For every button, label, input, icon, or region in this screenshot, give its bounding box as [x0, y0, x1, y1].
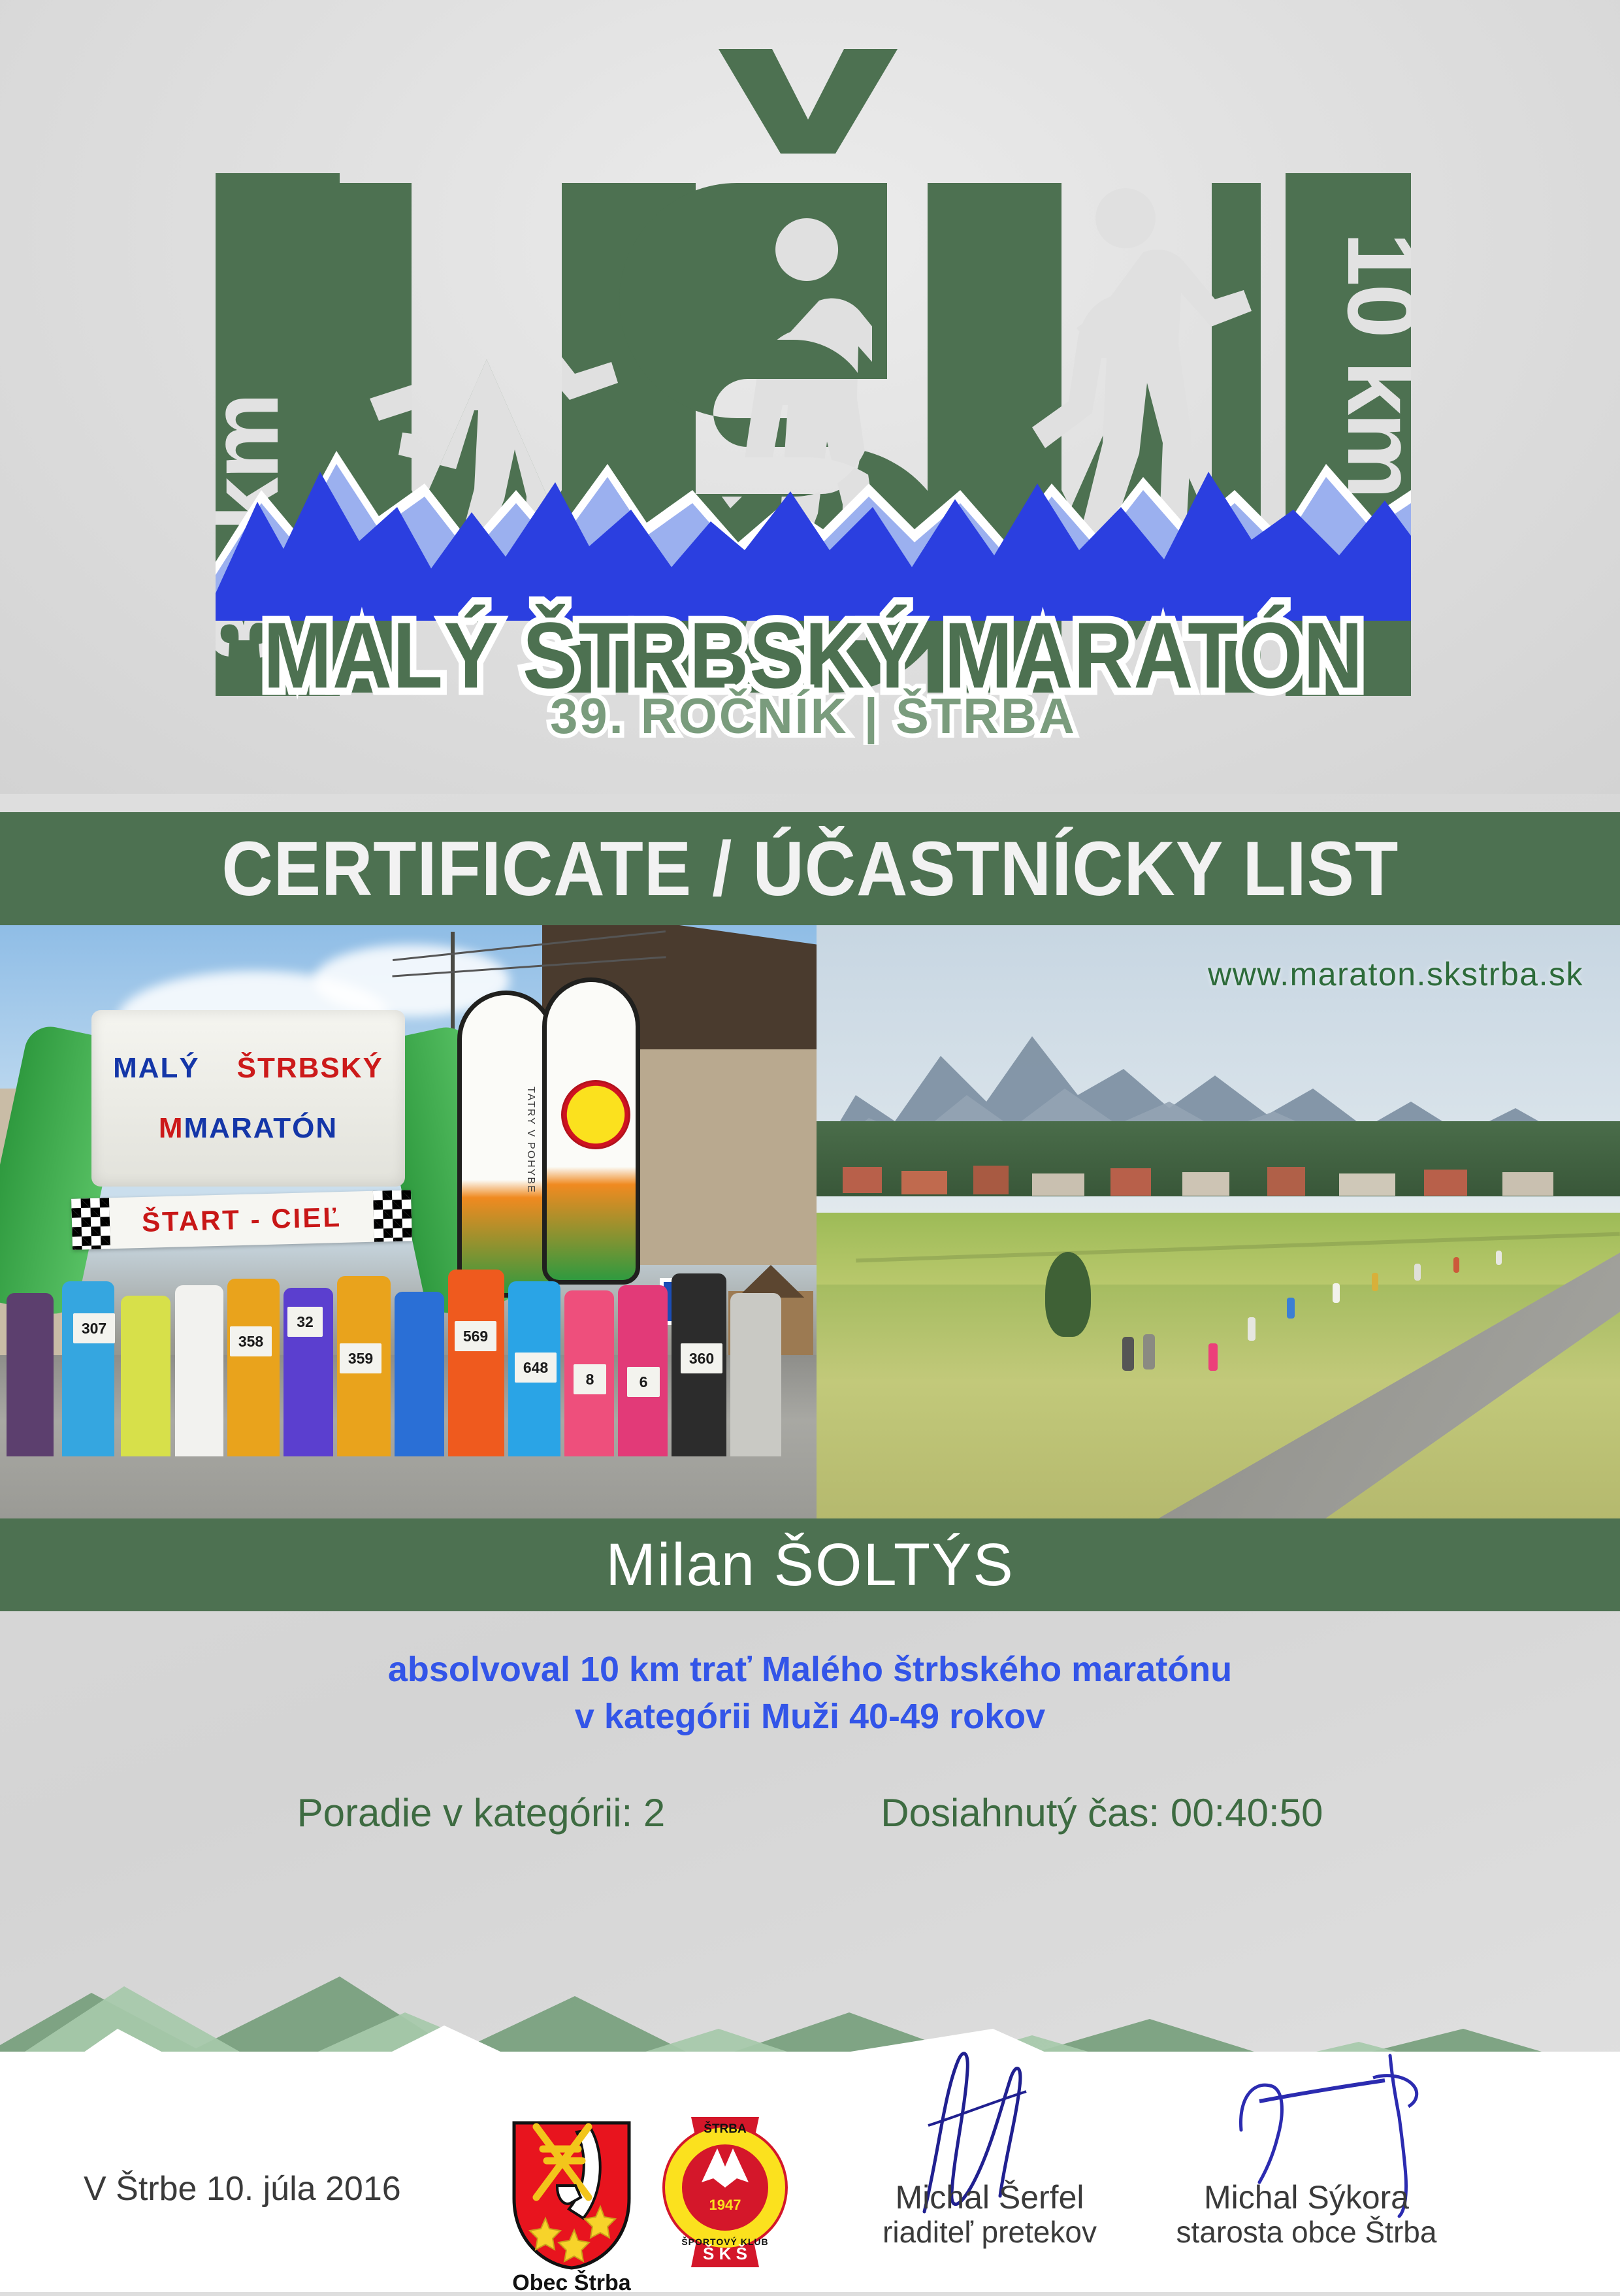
race-start-photo: MALÝ ŠTRBSKÝ MMARATÓN ŠTART - CIEĽ TATR: [0, 925, 817, 1518]
runner-bib: 6: [627, 1367, 660, 1397]
participant-name: Milan ŠOLTÝS: [606, 1531, 1014, 1599]
sports-club-crest-icon: ŠTRBA 1947 Š K Š ŠPORTOVÝ KLUB: [660, 2110, 790, 2274]
runner-bib: 8: [574, 1364, 606, 1394]
runner: [121, 1296, 170, 1456]
runner: [730, 1293, 781, 1456]
photo-strip: MALÝ ŠTRBSKÝ MMARATÓN ŠTART - CIEĽ TATR: [0, 925, 1620, 1518]
distant-runner: [1208, 1343, 1218, 1371]
achievement-line-2: v kategórii Muži 40-49 rokov: [0, 1694, 1620, 1741]
village-crest-caption: Obec Štrba: [496, 2271, 647, 2296]
runner: [395, 1292, 444, 1456]
logo-area: 31 km 10 km: [0, 0, 1620, 794]
msm-logo: 31 km 10 km: [216, 33, 1411, 745]
landscape-photo: www.maraton.skstrba.sk: [817, 925, 1620, 1518]
tree: [1045, 1252, 1091, 1337]
signature-name: Michal Sýkora: [1124, 2179, 1489, 2216]
finish-time: Dosiahnutý čas: 00:40:50: [881, 1790, 1323, 1835]
runner: [62, 1281, 114, 1456]
building: [640, 1049, 817, 1265]
arch-word-maraton: MARATÓN: [184, 1112, 338, 1144]
signature-role: starosta obce Štrba: [1124, 2216, 1489, 2250]
arch-banner-top: MALÝ ŠTRBSKÝ MMARATÓN: [91, 1010, 405, 1187]
distant-runner: [1287, 1298, 1295, 1319]
sks-badge-icon: [561, 1080, 630, 1149]
start-finish-text: ŠTART - CIEĽ: [141, 1202, 342, 1238]
arch-word-strbsky: ŠTRBSKÝ: [237, 1052, 383, 1084]
runner: [448, 1270, 504, 1456]
spectator: [1143, 1334, 1155, 1369]
results-row: Poradie v kategórii: 2 Dosiahnutý čas: 0…: [0, 1790, 1620, 1835]
runner: [175, 1285, 223, 1456]
signature-role: riaditeľ pretekov: [807, 2216, 1173, 2250]
certificate-title-band: CERTIFICATE / ÚČASTNÍCKY LIST: [0, 812, 1620, 925]
right-distance-label: 10 km: [1327, 232, 1411, 497]
runner-bib: 648: [515, 1353, 557, 1383]
runner-bib: 360: [681, 1343, 722, 1373]
footer: V Štrbe 10. júla 2016 Obec Štrba: [0, 2052, 1620, 2292]
distant-runner: [1414, 1264, 1421, 1281]
runner-crowd: 307 358 359 32 569 648 8 6 360: [0, 1238, 817, 1518]
arch-line-2: MMARATÓN: [159, 1112, 338, 1145]
achievement-description: absolvoval 10 km trať Malého štrbského m…: [0, 1647, 1620, 1741]
runner-bib: 359: [340, 1343, 381, 1373]
runner: [7, 1293, 54, 1456]
checker-flag-right: [373, 1190, 412, 1241]
runner: [227, 1279, 280, 1456]
certificate-page: 31 km 10 km: [0, 0, 1620, 2292]
spectator: [1122, 1337, 1134, 1371]
runner-bib: 307: [73, 1313, 115, 1343]
arch-word-maly: MALÝ: [113, 1052, 200, 1084]
flag-text: TATRY V POHYBE: [484, 1087, 536, 1237]
village-crest-icon: [506, 2120, 637, 2271]
distant-runner: [1333, 1283, 1340, 1303]
event-edition: 39. ROČNÍK | ŠTRBA: [550, 689, 1077, 745]
club-crest-top: ŠTRBA: [704, 2122, 747, 2136]
issue-date: V Štrbe 10. júla 2016: [84, 2169, 401, 2208]
arch-line-1: MALÝ ŠTRBSKÝ: [113, 1052, 383, 1085]
runner-bib: 358: [230, 1326, 272, 1356]
distant-runner: [1453, 1257, 1459, 1273]
achievement-line-1: absolvoval 10 km trať Malého štrbského m…: [0, 1647, 1620, 1694]
club-crest-year: 1947: [709, 2197, 741, 2213]
signature-name: Michal Šerfel: [807, 2179, 1173, 2216]
club-crest-ring: ŠPORTOVÝ KLUB: [681, 2236, 768, 2247]
inflatable-start-arch: MALÝ ŠTRBSKÝ MMARATÓN ŠTART - CIEĽ: [0, 1004, 496, 1278]
participant-name-band: Milan ŠOLTÝS: [0, 1518, 1620, 1611]
distant-runner: [1372, 1273, 1378, 1291]
runner-bib: 32: [287, 1307, 323, 1337]
signature-block-mayor: Michal Sýkora starosta obce Štrba: [1124, 2179, 1489, 2250]
website-url[interactable]: www.maraton.skstrba.sk: [1208, 955, 1583, 993]
category-rank: Poradie v kategórii: 2: [297, 1790, 666, 1835]
distant-runner: [1496, 1251, 1502, 1265]
distant-runner: [1248, 1317, 1255, 1341]
signature-block-director: Michal Šerfel riaditeľ pretekov: [807, 2179, 1173, 2250]
arch-word-maraton-m: M: [159, 1112, 184, 1144]
runner-bib: 569: [455, 1321, 496, 1351]
certificate-title: CERTIFICATE / ÚČASTNÍCKY LIST: [221, 825, 1399, 913]
